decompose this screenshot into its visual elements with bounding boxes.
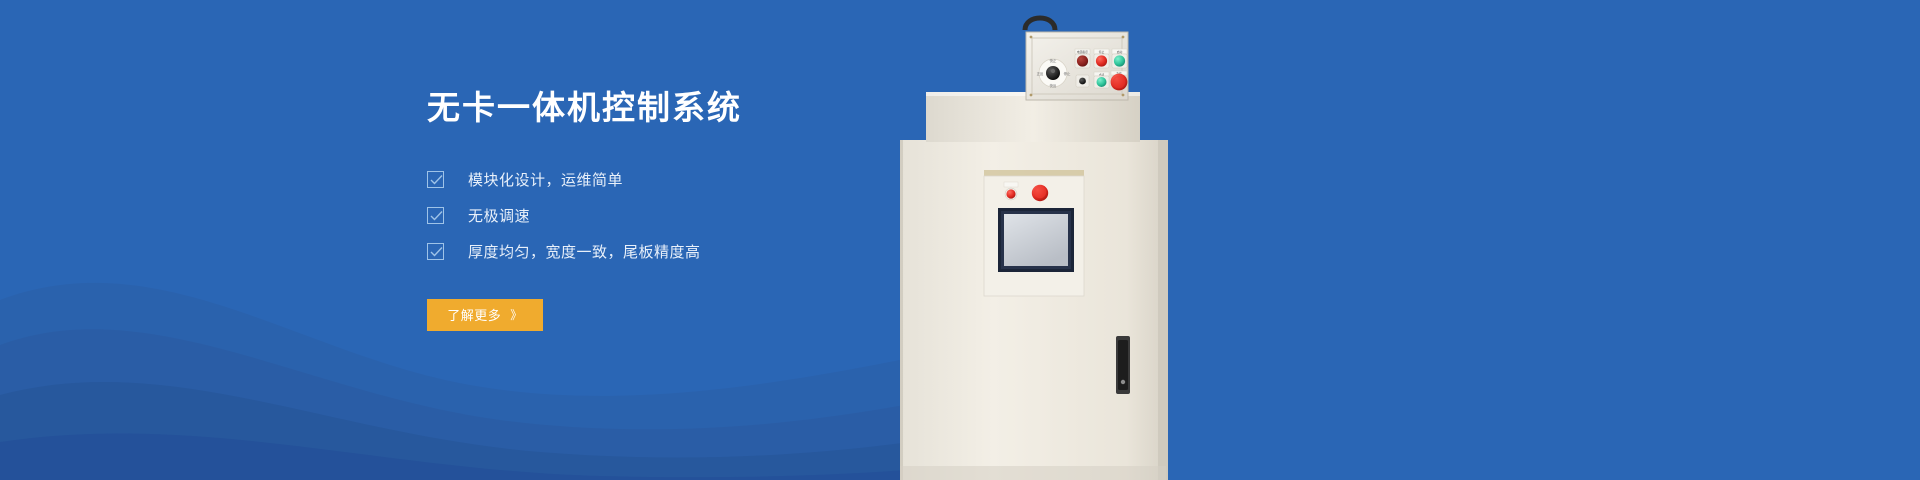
svg-text:停止: 停止: [1099, 50, 1105, 54]
door-handle: [1025, 18, 1055, 30]
check-box-icon: [427, 171, 444, 188]
svg-text:正反: 正反: [1037, 71, 1044, 76]
chevron-double-right-icon: 》: [510, 306, 523, 323]
hero-content: 无卡一体机控制系统 模块化设计，运维简单 无极调速: [427, 88, 947, 331]
button-green-2[interactable]: 点动: [1094, 72, 1109, 88]
button-black-small[interactable]: [1076, 75, 1089, 87]
svg-text:快正: 快正: [1050, 58, 1057, 63]
indicator-red-small[interactable]: [1004, 182, 1018, 200]
button-red[interactable]: 停止: [1094, 49, 1109, 68]
button-green[interactable]: 启动: [1112, 49, 1127, 68]
hmi-screen[interactable]: [998, 208, 1074, 272]
svg-text:启动: 启动: [1117, 50, 1123, 54]
control-cabinet-photo: 快正 快反 正反 停止 电源指示 停止 启动: [900, 0, 1320, 480]
feature-label: 无极调速: [468, 205, 530, 226]
touchscreen-panel: [984, 170, 1084, 296]
feature-label: 厚度均匀，宽度一致，尾板精度高: [468, 241, 701, 262]
feature-item-1: 模块化设计，运维简单: [427, 170, 947, 190]
indicator-red-large[interactable]: [1032, 185, 1048, 201]
learn-more-button[interactable]: 了解更多 》: [427, 299, 543, 331]
feature-item-3: 厚度均匀，宽度一致，尾板精度高: [427, 242, 947, 262]
svg-text:电源指示: 电源指示: [1077, 50, 1088, 54]
feature-list: 模块化设计，运维简单 无极调速 厚度均匀，宽度一致，尾板精度高: [427, 170, 947, 262]
hero-banner: 无卡一体机控制系统 模块化设计，运维简单 无极调速: [0, 0, 1920, 480]
learn-more-label: 了解更多: [447, 305, 501, 324]
feature-item-2: 无极调速: [427, 206, 947, 226]
top-control-panel: 快正 快反 正反 停止 电源指示 停止 启动: [1025, 18, 1128, 100]
button-dark-red[interactable]: 电源指示: [1075, 49, 1090, 68]
page-title: 无卡一体机控制系统: [427, 88, 947, 128]
feature-label: 模块化设计，运维简单: [468, 169, 623, 190]
door-handle-strip[interactable]: [1116, 336, 1130, 394]
svg-text:快反: 快反: [1050, 83, 1057, 88]
check-box-icon: [427, 207, 444, 224]
check-box-icon: [427, 243, 444, 260]
button-emergency-red[interactable]: 急停: [1111, 71, 1128, 90]
svg-text:停止: 停止: [1064, 71, 1071, 76]
